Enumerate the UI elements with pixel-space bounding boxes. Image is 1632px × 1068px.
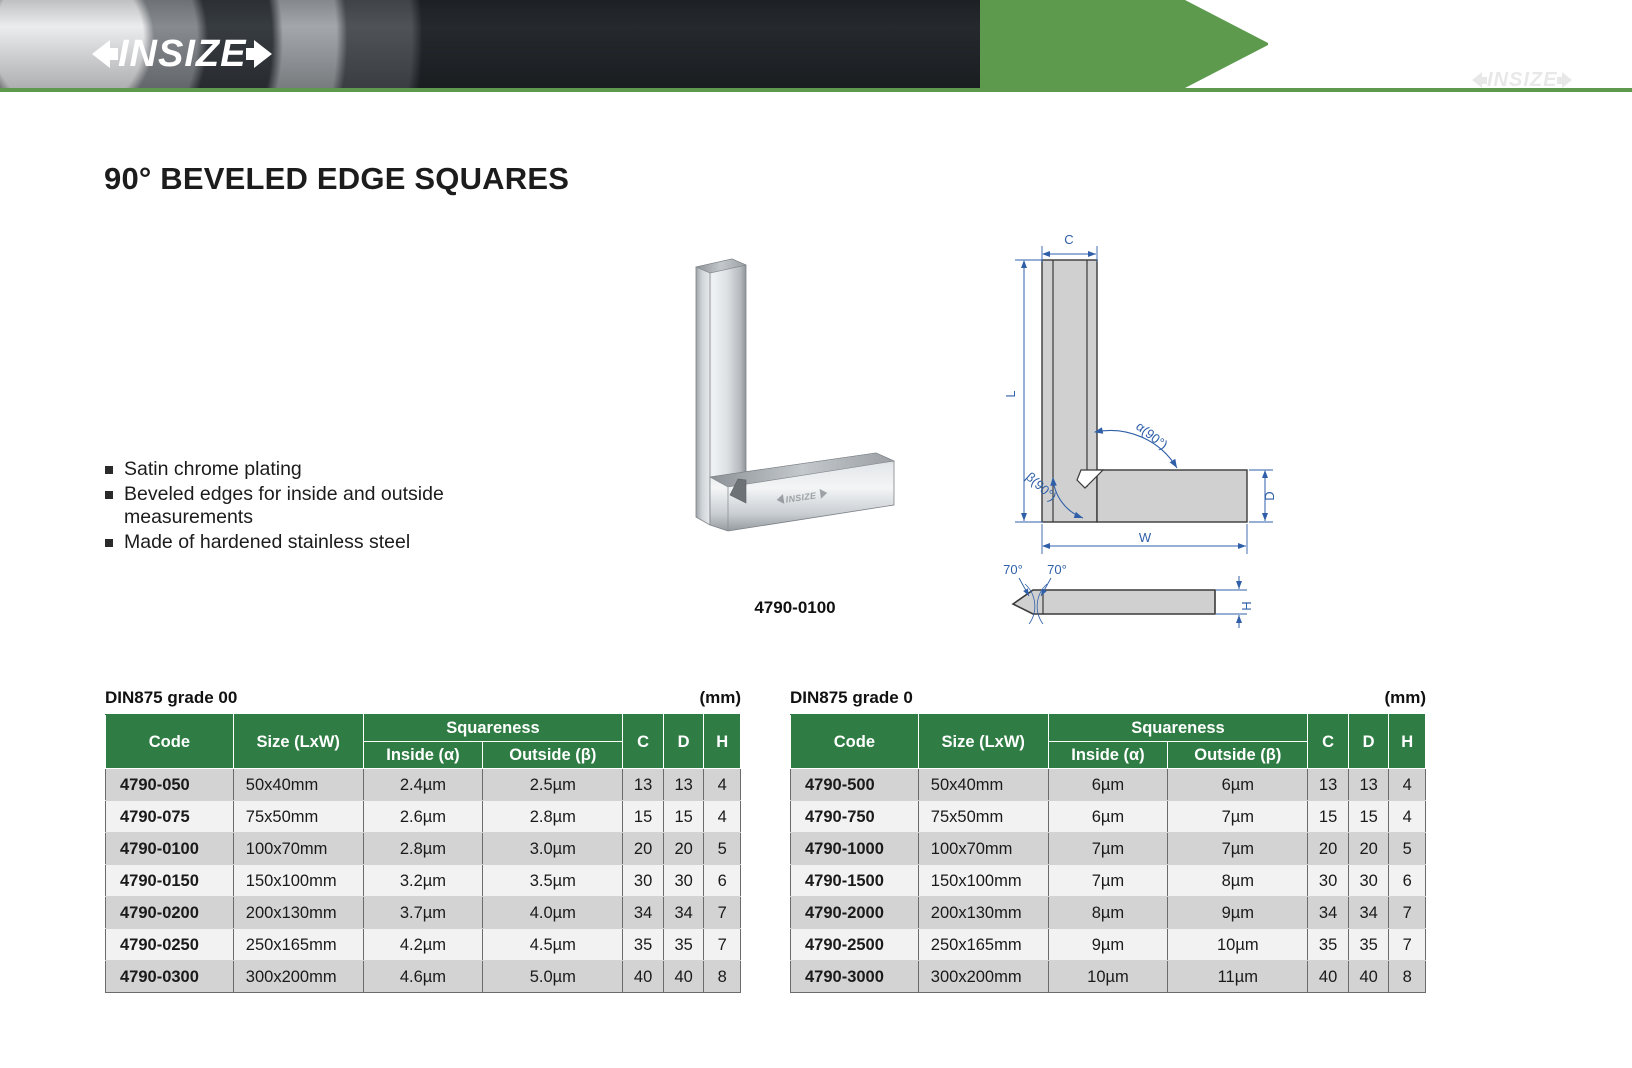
- cell-code: 4790-050: [106, 769, 234, 801]
- feature-list: Satin chrome plating Beveled edges for i…: [105, 458, 525, 555]
- cell-size: 200x130mm: [918, 897, 1048, 929]
- cell-code: 4790-0300: [106, 961, 234, 993]
- cell-d: 40: [663, 961, 704, 993]
- cell-c: 35: [1308, 929, 1349, 961]
- cell-outside: 7µm: [1168, 833, 1308, 865]
- table-caption-row: DIN875 grade 0 (mm): [790, 688, 1426, 708]
- cell-outside: 8µm: [1168, 865, 1308, 897]
- technical-drawing-svg: C L W D α(90°) β(90°) 70°: [985, 232, 1285, 632]
- cell-d: 40: [1348, 961, 1389, 993]
- cell-inside: 7µm: [1048, 833, 1168, 865]
- table-row: 4790-500 50x40mm 6µm 6µm 13 13 4: [791, 769, 1426, 801]
- cell-d: 20: [663, 833, 704, 865]
- cell-d: 13: [663, 769, 704, 801]
- table-unit: (mm): [699, 688, 741, 708]
- square-bullet-icon: [105, 466, 113, 474]
- col-header-inside: Inside (α): [1048, 742, 1168, 769]
- cell-d: 15: [1348, 801, 1389, 833]
- watermark-left-arrow-icon: [1472, 72, 1482, 88]
- product-photo: INSIZE: [690, 255, 900, 570]
- cell-size: 50x40mm: [918, 769, 1048, 801]
- cell-c: 15: [1308, 801, 1349, 833]
- col-header-h: H: [704, 715, 741, 769]
- cell-size: 300x200mm: [918, 961, 1048, 993]
- cell-code: 4790-1000: [791, 833, 919, 865]
- cell-c: 20: [623, 833, 664, 865]
- cell-outside: 7µm: [1168, 801, 1308, 833]
- square-bullet-icon: [105, 539, 113, 547]
- col-header-inside: Inside (α): [363, 742, 483, 769]
- cell-size: 250x165mm: [918, 929, 1048, 961]
- beveled-square-photo-svg: INSIZE: [690, 255, 900, 570]
- table-caption: DIN875 grade 0: [790, 688, 913, 708]
- cell-size: 300x200mm: [233, 961, 363, 993]
- cell-inside: 10µm: [1048, 961, 1168, 993]
- cell-size: 150x100mm: [918, 865, 1048, 897]
- cell-inside: 3.7µm: [363, 897, 483, 929]
- table-row: 4790-0300 300x200mm 4.6µm 5.0µm 40 40 8: [106, 961, 741, 993]
- dimension-label-c: C: [1064, 232, 1073, 247]
- insize-watermark-logo: INSIZE: [1472, 58, 1572, 92]
- feature-text: Satin chrome plating: [124, 458, 525, 482]
- feature-text: Beveled edges for inside and outside mea…: [124, 483, 525, 530]
- cell-outside: 3.0µm: [483, 833, 623, 865]
- col-header-c: C: [1308, 715, 1349, 769]
- table-row: 4790-0100 100x70mm 2.8µm 3.0µm 20 20 5: [106, 833, 741, 865]
- cell-inside: 6µm: [1048, 801, 1168, 833]
- feature-text: Made of hardened stainless steel: [124, 531, 525, 555]
- cell-code: 4790-3000: [791, 961, 919, 993]
- logo-left-bar: [110, 48, 118, 60]
- spec-table: Code Size (LxW) Squareness C D H Inside …: [790, 714, 1426, 993]
- dimension-label-h: H: [1239, 601, 1254, 610]
- cell-size: 250x165mm: [233, 929, 363, 961]
- table-caption-row: DIN875 grade 00 (mm): [105, 688, 741, 708]
- cell-inside: 4.6µm: [363, 961, 483, 993]
- cell-outside: 2.5µm: [483, 769, 623, 801]
- cell-h: 8: [1389, 961, 1426, 993]
- col-header-d: D: [1348, 715, 1389, 769]
- logo-wordmark: INSIZE: [118, 35, 246, 73]
- cell-code: 4790-500: [791, 769, 919, 801]
- cell-code: 4790-2500: [791, 929, 919, 961]
- table-row: 4790-1500 150x100mm 7µm 8µm 30 30 6: [791, 865, 1426, 897]
- col-header-code: Code: [106, 715, 234, 769]
- table-row: 4790-0250 250x165mm 4.2µm 4.5µm 35 35 7: [106, 929, 741, 961]
- logo-right-bar: [246, 48, 254, 60]
- cell-d: 34: [1348, 897, 1389, 929]
- cell-d: 30: [663, 865, 704, 897]
- cell-inside: 2.6µm: [363, 801, 483, 833]
- cell-inside: 9µm: [1048, 929, 1168, 961]
- cell-inside: 6µm: [1048, 769, 1168, 801]
- cell-c: 13: [1308, 769, 1349, 801]
- list-item: Satin chrome plating: [105, 458, 525, 482]
- list-item: Beveled edges for inside and outside mea…: [105, 483, 525, 530]
- cell-code: 4790-1500: [791, 865, 919, 897]
- page-header: INSIZE INSIZE: [0, 0, 1632, 92]
- cell-h: 4: [1389, 801, 1426, 833]
- cell-size: 100x70mm: [233, 833, 363, 865]
- cell-inside: 2.4µm: [363, 769, 483, 801]
- cell-h: 5: [1389, 833, 1426, 865]
- cell-size: 100x70mm: [918, 833, 1048, 865]
- cell-code: 4790-0250: [106, 929, 234, 961]
- cell-d: 15: [663, 801, 704, 833]
- cell-d: 13: [1348, 769, 1389, 801]
- table-row: 4790-0150 150x100mm 3.2µm 3.5µm 30 30 6: [106, 865, 741, 897]
- cell-h: 5: [704, 833, 741, 865]
- watermark-right-arrow-icon: [1562, 72, 1572, 88]
- cell-h: 4: [1389, 769, 1426, 801]
- cell-h: 4: [704, 801, 741, 833]
- cell-c: 40: [1308, 961, 1349, 993]
- cell-c: 30: [1308, 865, 1349, 897]
- list-item: Made of hardened stainless steel: [105, 531, 525, 555]
- watermark-wordmark: INSIZE: [1487, 70, 1557, 90]
- cell-c: 34: [623, 897, 664, 929]
- cell-d: 34: [663, 897, 704, 929]
- cell-h: 6: [1389, 865, 1426, 897]
- table-row: 4790-050 50x40mm 2.4µm 2.5µm 13 13 4: [106, 769, 741, 801]
- spec-table-grade-0: DIN875 grade 0 (mm) Code Size (LxW) Squa…: [790, 688, 1426, 993]
- col-header-size: Size (LxW): [918, 715, 1048, 769]
- col-header-code: Code: [791, 715, 919, 769]
- technical-drawing: C L W D α(90°) β(90°) 70°: [985, 232, 1285, 632]
- cell-size: 200x130mm: [233, 897, 363, 929]
- header-white-panel: [1268, 0, 1632, 88]
- cell-code: 4790-0150: [106, 865, 234, 897]
- page-title: 90° BEVELED EDGE SQUARES: [104, 161, 569, 197]
- header-green-rule: [0, 88, 1632, 92]
- cell-h: 7: [1389, 897, 1426, 929]
- cell-size: 150x100mm: [233, 865, 363, 897]
- cell-code: 4790-2000: [791, 897, 919, 929]
- cell-h: 6: [704, 865, 741, 897]
- dimension-label-d: D: [1262, 491, 1277, 500]
- cell-outside: 11µm: [1168, 961, 1308, 993]
- table-row: 4790-2500 250x165mm 9µm 10µm 35 35 7: [791, 929, 1426, 961]
- table-row: 4790-3000 300x200mm 10µm 11µm 40 40 8: [791, 961, 1426, 993]
- cell-outside: 3.5µm: [483, 865, 623, 897]
- cell-c: 13: [623, 769, 664, 801]
- cell-outside: 9µm: [1168, 897, 1308, 929]
- cell-inside: 4.2µm: [363, 929, 483, 961]
- cell-outside: 2.8µm: [483, 801, 623, 833]
- table-row: 4790-2000 200x130mm 8µm 9µm 34 34 7: [791, 897, 1426, 929]
- cell-h: 7: [704, 929, 741, 961]
- insize-logo: INSIZE: [92, 32, 272, 76]
- cell-size: 75x50mm: [918, 801, 1048, 833]
- col-header-outside: Outside (β): [483, 742, 623, 769]
- cell-h: 7: [704, 897, 741, 929]
- col-header-c: C: [623, 715, 664, 769]
- cell-c: 20: [1308, 833, 1349, 865]
- cell-outside: 10µm: [1168, 929, 1308, 961]
- cell-outside: 4.5µm: [483, 929, 623, 961]
- cell-outside: 4.0µm: [483, 897, 623, 929]
- logo-right-arrow-icon: [254, 40, 272, 68]
- cell-code: 4790-0100: [106, 833, 234, 865]
- cell-inside: 8µm: [1048, 897, 1168, 929]
- col-header-outside: Outside (β): [1168, 742, 1308, 769]
- cell-size: 50x40mm: [233, 769, 363, 801]
- cell-outside: 6µm: [1168, 769, 1308, 801]
- cross-section-detail: 70° 70° H: [1003, 562, 1254, 628]
- cell-c: 15: [623, 801, 664, 833]
- angle-label-70-right: 70°: [1047, 562, 1067, 577]
- spec-table-grade-00: DIN875 grade 00 (mm) Code Size (LxW) Squ…: [105, 688, 741, 993]
- table-row: 4790-750 75x50mm 6µm 7µm 15 15 4: [791, 801, 1426, 833]
- col-header-size: Size (LxW): [233, 715, 363, 769]
- cell-code: 4790-075: [106, 801, 234, 833]
- col-header-d: D: [663, 715, 704, 769]
- cell-d: 20: [1348, 833, 1389, 865]
- square-bullet-icon: [105, 491, 113, 499]
- dimension-label-l: L: [1003, 390, 1018, 397]
- cell-h: 4: [704, 769, 741, 801]
- table-row: 4790-1000 100x70mm 7µm 7µm 20 20 5: [791, 833, 1426, 865]
- cell-d: 35: [1348, 929, 1389, 961]
- cell-d: 30: [1348, 865, 1389, 897]
- col-header-h: H: [1389, 715, 1426, 769]
- drawing-body: [1042, 260, 1247, 522]
- product-caption: 4790-0100: [690, 598, 900, 618]
- cell-h: 8: [704, 961, 741, 993]
- cell-d: 35: [663, 929, 704, 961]
- table-row: 4790-075 75x50mm 2.6µm 2.8µm 15 15 4: [106, 801, 741, 833]
- col-header-squareness: Squareness: [363, 715, 623, 742]
- table-caption: DIN875 grade 00: [105, 688, 237, 708]
- table-row: 4790-0200 200x130mm 3.7µm 4.0µm 34 34 7: [106, 897, 741, 929]
- cell-outside: 5.0µm: [483, 961, 623, 993]
- spec-table: Code Size (LxW) Squareness C D H Inside …: [105, 714, 741, 993]
- logo-left-arrow-icon: [92, 40, 110, 68]
- cell-c: 30: [623, 865, 664, 897]
- cell-h: 7: [1389, 929, 1426, 961]
- table-unit: (mm): [1384, 688, 1426, 708]
- cell-size: 75x50mm: [233, 801, 363, 833]
- cell-inside: 7µm: [1048, 865, 1168, 897]
- cell-inside: 2.8µm: [363, 833, 483, 865]
- cell-code: 4790-0200: [106, 897, 234, 929]
- cell-c: 34: [1308, 897, 1349, 929]
- cell-inside: 3.2µm: [363, 865, 483, 897]
- col-header-squareness: Squareness: [1048, 715, 1308, 742]
- angle-label-70-left: 70°: [1003, 562, 1023, 577]
- cell-c: 40: [623, 961, 664, 993]
- dimension-label-w: W: [1139, 530, 1152, 545]
- cell-c: 35: [623, 929, 664, 961]
- cell-code: 4790-750: [791, 801, 919, 833]
